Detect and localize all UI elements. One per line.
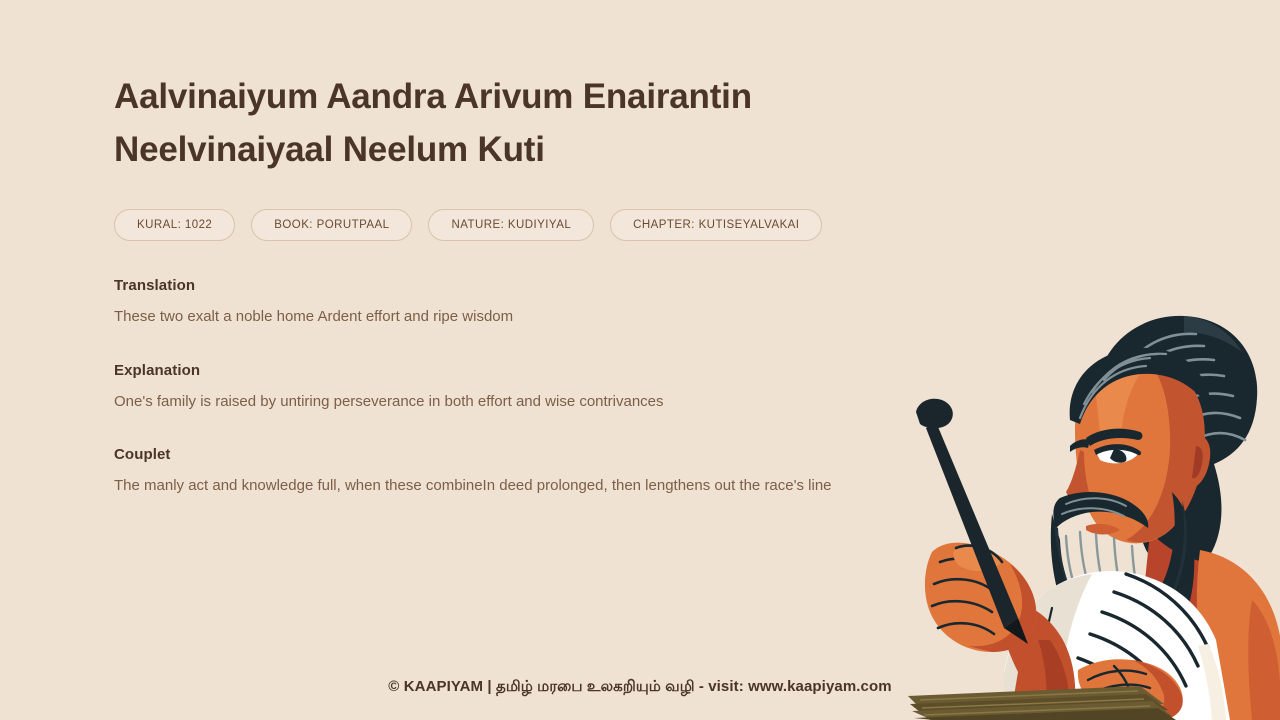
section-explanation: Explanation One's family is raised by un… bbox=[114, 362, 874, 413]
section-translation: Translation These two exalt a noble home… bbox=[114, 277, 874, 328]
badge-book[interactable]: BOOK: PORUTPAAL bbox=[251, 209, 412, 241]
kural-content: Aalvinaiyum Aandra Arivum Enairantin Nee… bbox=[114, 70, 874, 497]
kural-page: Aalvinaiyum Aandra Arivum Enairantin Nee… bbox=[0, 0, 1280, 720]
translation-text: These two exalt a noble home Ardent effo… bbox=[114, 306, 854, 328]
explanation-text: One's family is raised by untiring perse… bbox=[114, 391, 854, 413]
section-couplet: Couplet The manly act and knowledge full… bbox=[114, 446, 874, 497]
badge-nature[interactable]: NATURE: KUDIYIYAL bbox=[428, 209, 594, 241]
translation-heading: Translation bbox=[114, 277, 874, 294]
page-title: Aalvinaiyum Aandra Arivum Enairantin Nee… bbox=[114, 70, 814, 176]
kural-meta-badges: KURAL: 1022 BOOK: PORUTPAAL NATURE: KUDI… bbox=[114, 209, 874, 241]
thiruvalluvar-illustration bbox=[900, 300, 1280, 720]
footer-credit: © KAAPIYAM | தமிழ் மரபை உலகறியும் வழி - … bbox=[0, 678, 1280, 697]
badge-chapter[interactable]: CHAPTER: KUTISEYALVAKAI bbox=[610, 209, 822, 241]
couplet-heading: Couplet bbox=[114, 446, 874, 463]
couplet-text: The manly act and knowledge full, when t… bbox=[114, 475, 854, 497]
explanation-heading: Explanation bbox=[114, 362, 874, 379]
badge-kural-number[interactable]: KURAL: 1022 bbox=[114, 209, 235, 241]
